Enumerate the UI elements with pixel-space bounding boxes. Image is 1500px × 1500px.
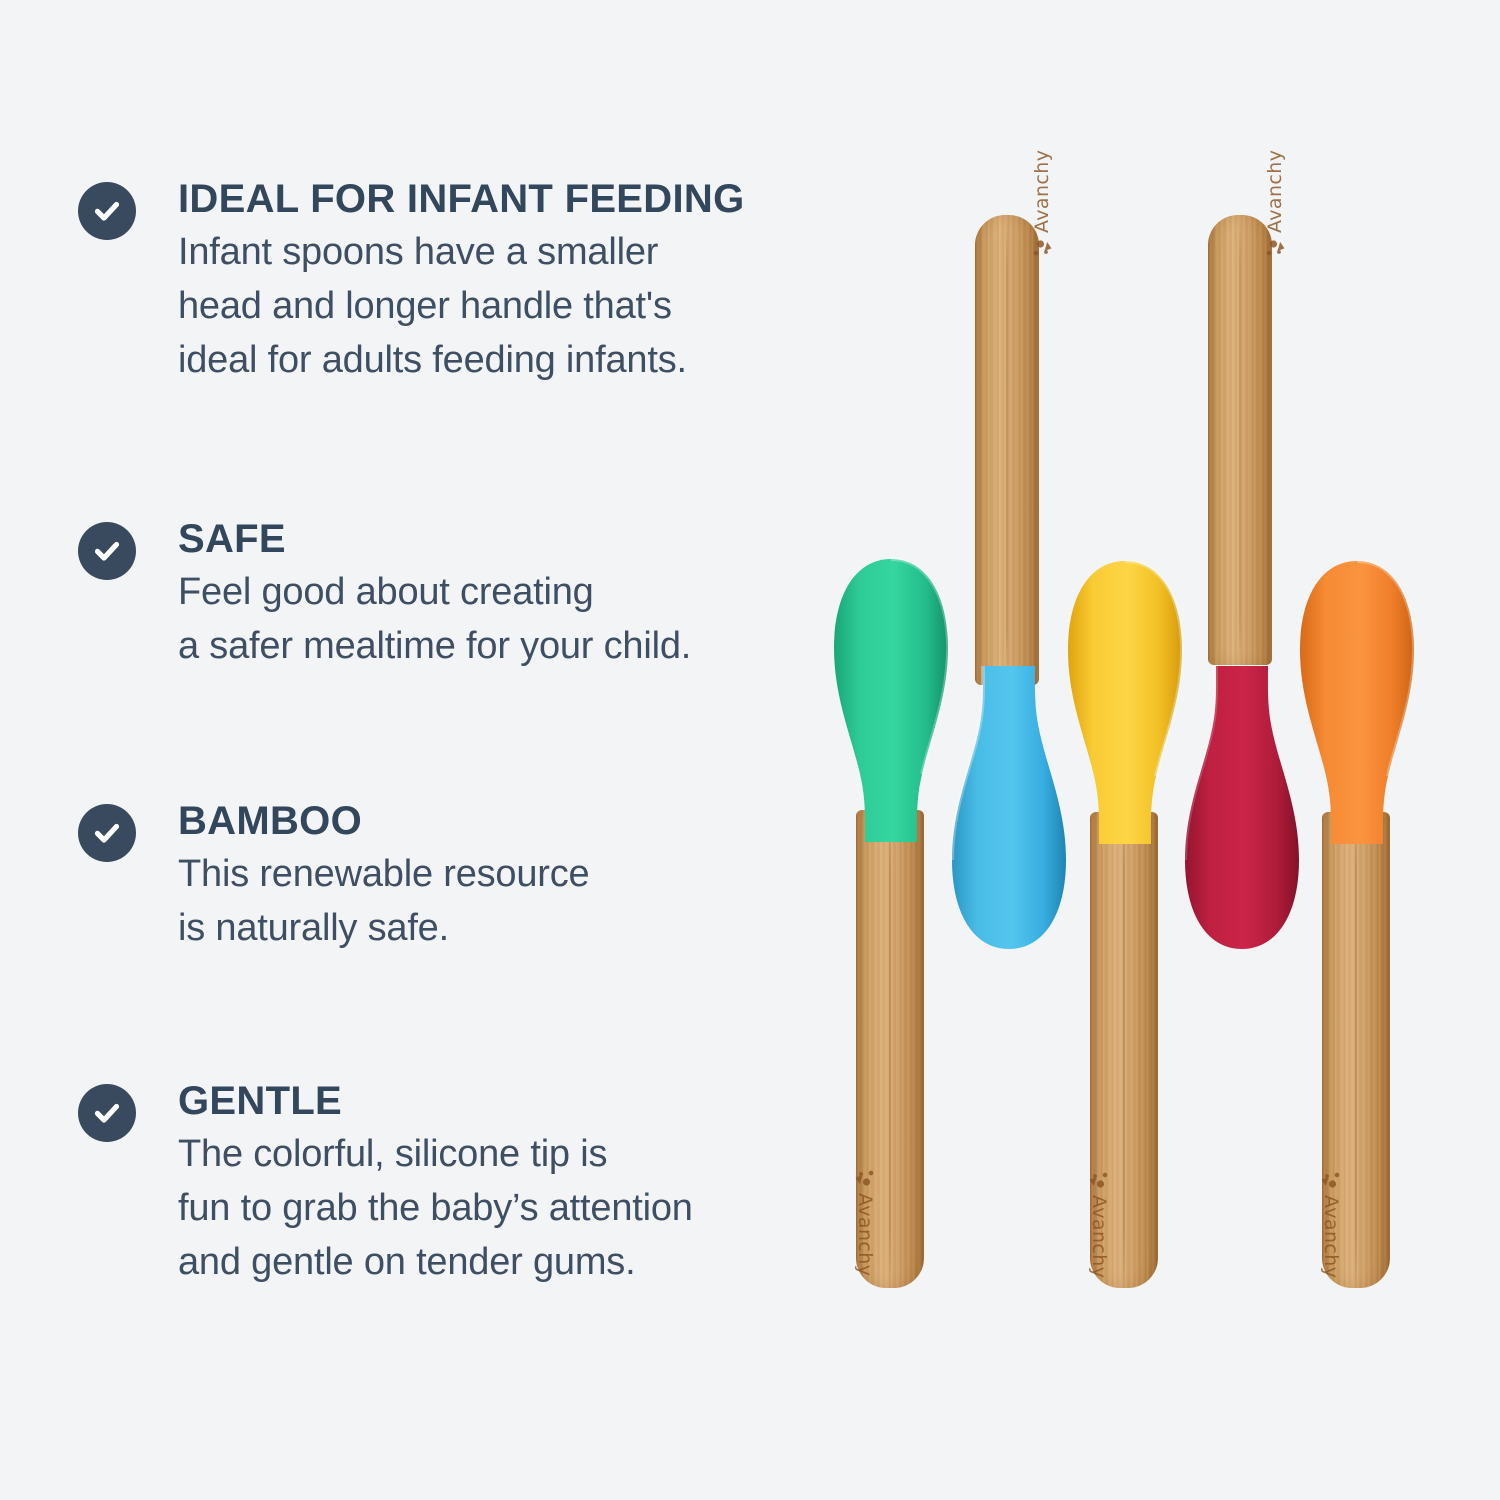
feature-item-ideal-for-infant-feeding: IDEAL FOR INFANT FEEDING Infant spoons h… bbox=[78, 178, 858, 388]
feature-description: Feel good about creating a safer mealtim… bbox=[178, 566, 858, 674]
feature-description-line: ideal for adults feeding infants. bbox=[178, 334, 858, 388]
feature-item-bamboo: BAMBOO This renewable resource is natura… bbox=[78, 800, 858, 956]
silicone-spoon-head bbox=[1296, 558, 1418, 858]
product-image-spoon-set: Avanchy bbox=[800, 0, 1500, 1500]
feature-description-line: head and longer handle that's bbox=[178, 280, 858, 334]
check-circle-icon bbox=[78, 522, 136, 580]
bamboo-handle bbox=[856, 810, 924, 1288]
feature-list: IDEAL FOR INFANT FEEDING Infant spoons h… bbox=[0, 0, 830, 1500]
feature-description-line: This renewable resource bbox=[178, 848, 858, 902]
silicone-spoon-head bbox=[948, 652, 1070, 952]
feature-description: The colorful, silicone tip is fun to gra… bbox=[178, 1128, 858, 1290]
bamboo-handle bbox=[975, 215, 1039, 685]
feature-description: This renewable resource is naturally saf… bbox=[178, 848, 858, 956]
feature-description: Infant spoons have a smaller head and lo… bbox=[178, 226, 858, 388]
bamboo-handle bbox=[1322, 812, 1390, 1288]
bamboo-handle bbox=[1090, 812, 1158, 1288]
feature-item-safe: SAFE Feel good about creating a safer me… bbox=[78, 518, 858, 674]
feature-item-gentle: GENTLE The colorful, silicone tip is fun… bbox=[78, 1080, 858, 1290]
feature-title: GENTLE bbox=[178, 1080, 858, 1122]
check-circle-icon bbox=[78, 1084, 136, 1142]
feature-body: SAFE Feel good about creating a safer me… bbox=[178, 518, 858, 674]
check-circle-icon bbox=[78, 182, 136, 240]
silicone-spoon-head bbox=[1064, 558, 1186, 858]
feature-description-line: is naturally safe. bbox=[178, 902, 858, 956]
feature-description-line: a safer mealtime for your child. bbox=[178, 620, 858, 674]
feature-description-line: The colorful, silicone tip is bbox=[178, 1128, 858, 1182]
feature-description-line: Feel good about creating bbox=[178, 566, 858, 620]
feature-description-line: and gentle on tender gums. bbox=[178, 1236, 858, 1290]
feature-title: BAMBOO bbox=[178, 800, 858, 842]
feature-body: GENTLE The colorful, silicone tip is fun… bbox=[178, 1080, 858, 1290]
brand-logo-text: Avanchy bbox=[1031, 150, 1053, 233]
brand-logo-text: Avanchy bbox=[1264, 150, 1286, 233]
feature-body: BAMBOO This renewable resource is natura… bbox=[178, 800, 858, 956]
feature-description-line: Infant spoons have a smaller bbox=[178, 226, 858, 280]
feature-title: SAFE bbox=[178, 518, 858, 560]
silicone-spoon-head bbox=[1181, 652, 1303, 952]
bamboo-handle bbox=[1208, 215, 1272, 665]
feature-body: IDEAL FOR INFANT FEEDING Infant spoons h… bbox=[178, 178, 858, 388]
feature-title: IDEAL FOR INFANT FEEDING bbox=[178, 178, 858, 220]
check-circle-icon bbox=[78, 804, 136, 862]
feature-description-line: fun to grab the baby’s attention bbox=[178, 1182, 858, 1236]
silicone-spoon-head bbox=[830, 556, 952, 856]
